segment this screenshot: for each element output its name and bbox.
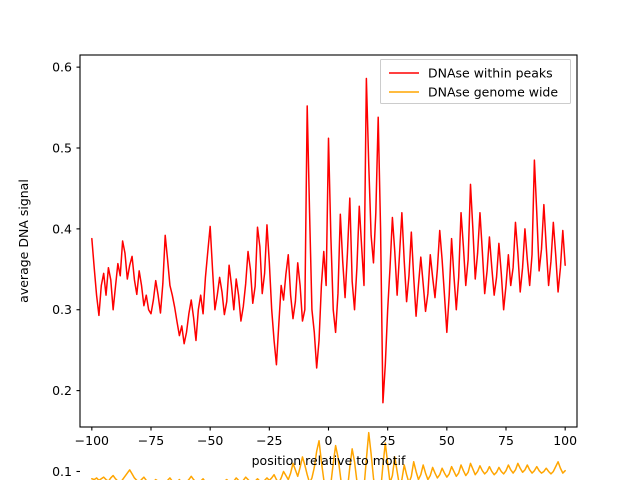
legend-label-dnase-genome-wide: DNAse genome wide [428, 85, 558, 100]
plot-area-background [80, 55, 577, 427]
y-tick-label: 0.5 [52, 141, 72, 156]
y-axis-ticks: 0.10.20.30.40.50.6 [52, 60, 80, 479]
y-axis-label: average DNA signal [16, 179, 31, 303]
x-tick-label: 100 [553, 433, 577, 448]
chart-legend: DNAse within peaks DNAse genome wide [381, 60, 571, 104]
y-tick-label: 0.4 [52, 221, 72, 236]
x-axis-label: position relative to motif [252, 453, 406, 468]
chart-figure: −100−75−50−250255075100 0.10.20.30.40.50… [0, 0, 640, 480]
x-tick-label: 0 [325, 433, 333, 448]
y-tick-label: 0.1 [52, 464, 72, 479]
legend-label-dnase-within-peaks: DNAse within peaks [428, 66, 553, 81]
x-tick-label: 25 [380, 433, 396, 448]
chart-canvas: −100−75−50−250255075100 0.10.20.30.40.50… [0, 0, 640, 480]
x-tick-label: −25 [256, 433, 282, 448]
x-tick-label: 50 [439, 433, 455, 448]
y-tick-label: 0.6 [52, 60, 72, 75]
x-tick-label: −50 [197, 433, 223, 448]
y-tick-label: 0.3 [52, 302, 72, 317]
x-tick-label: −75 [138, 433, 164, 448]
x-axis-ticks: −100−75−50−250255075100 [75, 427, 577, 448]
y-tick-label: 0.2 [52, 383, 72, 398]
x-tick-label: −100 [75, 433, 109, 448]
x-tick-label: 75 [498, 433, 514, 448]
